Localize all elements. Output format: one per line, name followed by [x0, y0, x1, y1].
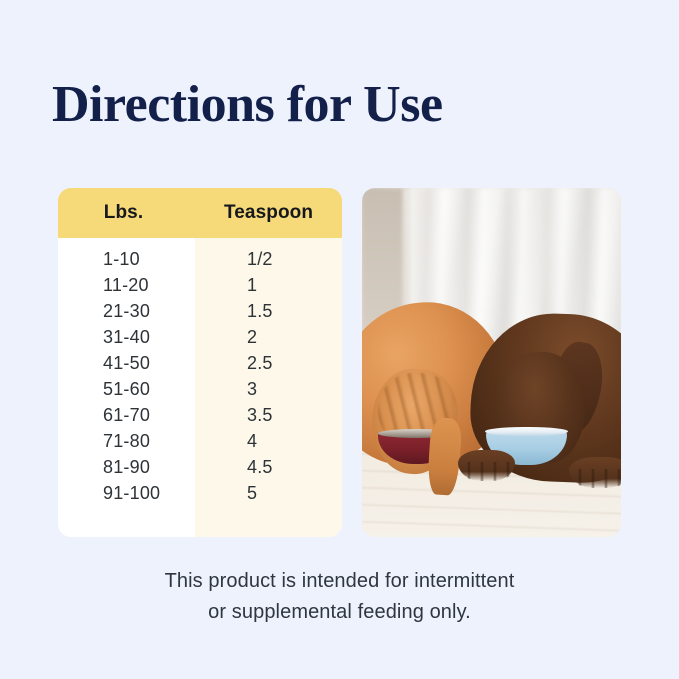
dog-paw-left — [458, 450, 515, 481]
cell-teaspoon: 1/2 — [195, 249, 342, 270]
table-row: 41-50 2.5 — [58, 350, 342, 376]
cell-lbs: 1-10 — [58, 249, 195, 270]
cell-teaspoon: 2 — [195, 327, 342, 348]
cell-lbs: 71-80 — [58, 431, 195, 452]
cell-lbs: 51-60 — [58, 379, 195, 400]
cell-teaspoon: 3.5 — [195, 405, 342, 426]
column-header-teaspoon: Teaspoon — [195, 202, 342, 224]
table-row: 11-20 1 — [58, 272, 342, 298]
table-row: 21-30 1.5 — [58, 298, 342, 324]
table-row: 91-100 5 — [58, 480, 342, 506]
cell-lbs: 11-20 — [58, 275, 195, 296]
feeding-disclaimer-line-1: This product is intended for intermitten… — [0, 566, 679, 597]
table-row: 81-90 4.5 — [58, 454, 342, 480]
feeding-disclaimer-line-2: or supplemental feeding only. — [0, 597, 679, 628]
page-title: Directions for Use — [52, 76, 443, 133]
dosage-table-body: 1-10 1/2 11-20 1 21-30 1.5 31-40 2 41-50… — [58, 238, 342, 506]
cell-teaspoon: 2.5 — [195, 353, 342, 374]
cell-lbs: 31-40 — [58, 327, 195, 348]
table-row: 1-10 1/2 — [58, 246, 342, 272]
cell-teaspoon: 1.5 — [195, 301, 342, 322]
cell-lbs: 61-70 — [58, 405, 195, 426]
table-row: 71-80 4 — [58, 428, 342, 454]
cell-lbs: 21-30 — [58, 301, 195, 322]
dog-paw-right — [569, 457, 621, 488]
cell-teaspoon: 4 — [195, 431, 342, 452]
cell-lbs: 41-50 — [58, 353, 195, 374]
cell-teaspoon: 3 — [195, 379, 342, 400]
directions-for-use-panel: Directions for Use Lbs. Teaspoon 1-10 1/… — [0, 0, 679, 679]
cell-teaspoon: 4.5 — [195, 457, 342, 478]
dosage-table-header-row: Lbs. Teaspoon — [58, 188, 342, 238]
cell-lbs: 91-100 — [58, 483, 195, 504]
cell-lbs: 81-90 — [58, 457, 195, 478]
dosage-table: Lbs. Teaspoon 1-10 1/2 11-20 1 21-30 1.5… — [58, 188, 342, 537]
pets-eating-photo — [362, 188, 621, 537]
cell-teaspoon: 5 — [195, 483, 342, 504]
table-row: 61-70 3.5 — [58, 402, 342, 428]
feeding-disclaimer: This product is intended for intermitten… — [0, 566, 679, 628]
cell-teaspoon: 1 — [195, 275, 342, 296]
column-header-lbs: Lbs. — [58, 202, 195, 224]
table-row: 51-60 3 — [58, 376, 342, 402]
table-row: 31-40 2 — [58, 324, 342, 350]
